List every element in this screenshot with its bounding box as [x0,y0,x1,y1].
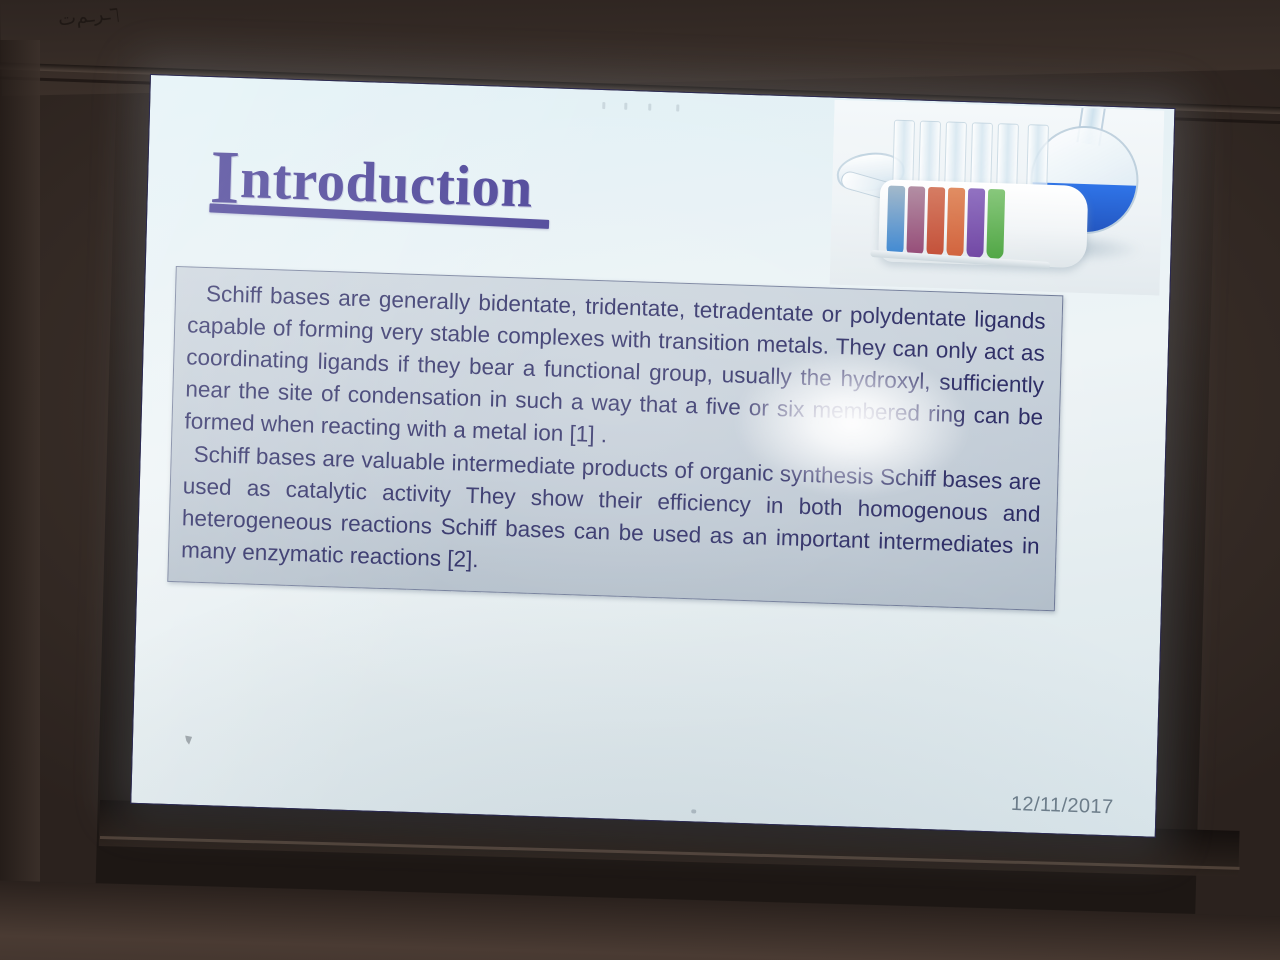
rack-tube-magenta [906,186,925,257]
body-text-box: Schiff bases are generally bidentate, tr… [167,266,1063,612]
rack-tube-purple [966,188,985,259]
slide-canvas: Introduction Schiff bases are generally … [130,74,1175,838]
lab-glassware-image [830,100,1165,296]
rack-tube-red [926,187,945,258]
body-paragraph-2: Schiff bases are valuable intermediate p… [181,438,1042,594]
screen-dust-top [602,102,692,115]
rack-tube-orange [946,188,965,259]
slide-date: 12/11/2017 [1011,793,1114,819]
body-paragraph-1: Schiff bases are generally bidentate, tr… [184,277,1046,465]
screen-speck-left [185,736,192,745]
photo-of-projected-slide: ךـرـمﺕ [0,0,1280,960]
rack-tube-green [986,189,1005,260]
projected-slide: Introduction Schiff bases are generally … [130,74,1175,838]
wall-left-post [0,40,40,940]
screen-speck-bottom [691,809,696,813]
slide-title-block: Introduction [209,147,551,226]
rack-tube-blue [886,186,905,257]
